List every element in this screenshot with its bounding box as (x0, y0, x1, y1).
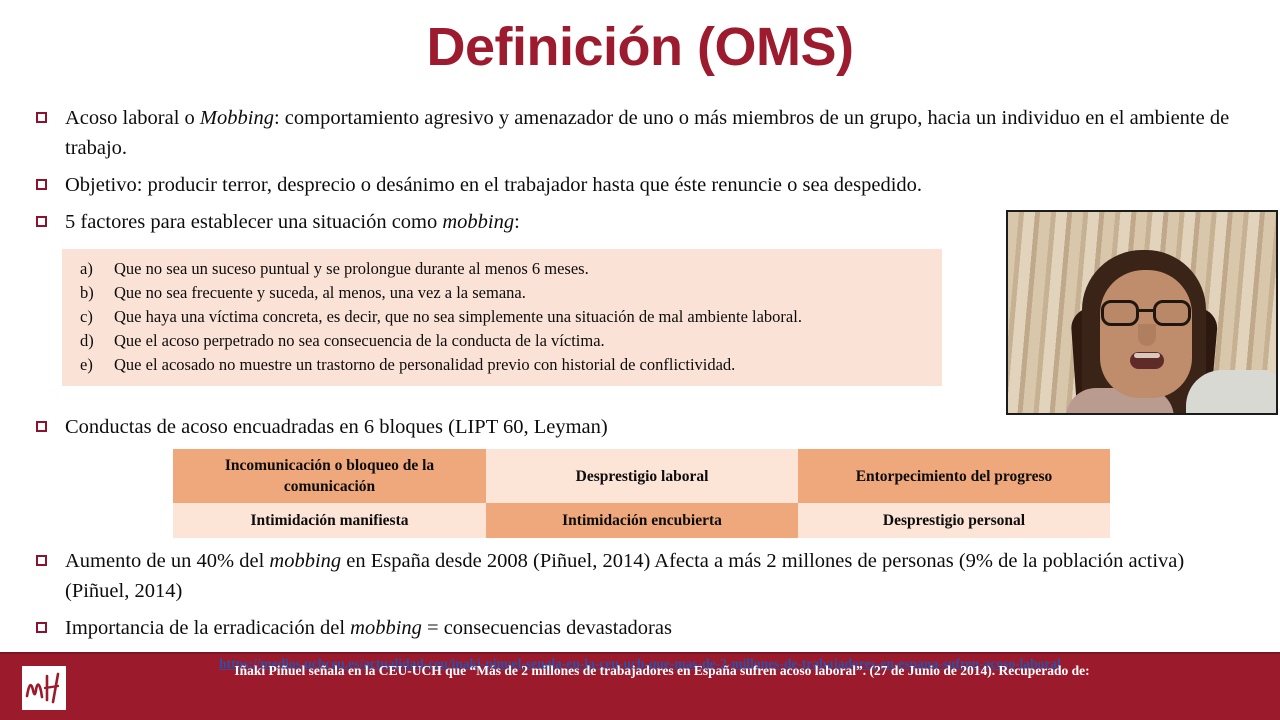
list-item-label: e) (80, 353, 114, 377)
bullet-text: Importancia de la erradicación del mobbi… (65, 613, 672, 643)
bullet-item-aumento: Aumento de un 40% del mobbing en España … (36, 546, 1236, 606)
table-row: Intimidación manifiesta Intimidación enc… (173, 503, 1110, 538)
list-item-label: b) (80, 281, 114, 305)
square-bullet-icon (36, 555, 47, 566)
list-item-label: c) (80, 305, 114, 329)
slide-canvas: Definición (OMS) Acoso laboral o Mobbing… (0, 0, 1280, 720)
footer-bar: Iñaki Piñuel señala en la CEU-UCH que “M… (0, 652, 1280, 720)
table-cell: Desprestigio laboral (486, 449, 798, 503)
bullet-item-5-factores: 5 factores para establecer una situación… (36, 207, 1036, 237)
webcam-glasses-lens-right (1153, 300, 1191, 326)
webcam-teeth (1134, 353, 1160, 358)
bullet-item-objetivo: Objetivo: producir terror, desprecio o d… (36, 170, 1231, 200)
page-title: Definición (OMS) (0, 16, 1280, 78)
bullet-text: Acoso laboral o Mobbing: comportamiento … (65, 103, 1231, 163)
blocks-table: Incomunicación o bloqueo de la comunicac… (173, 449, 1110, 538)
table-cell: Desprestigio personal (798, 503, 1110, 538)
bullet-item-importancia: Importancia de la erradicación del mobbi… (36, 613, 1236, 643)
webcam-nose (1138, 324, 1156, 346)
square-bullet-icon (36, 112, 47, 123)
list-item-text: Que haya una víctima concreta, es decir,… (114, 305, 802, 329)
bullet-item-conductas: Conductas de acoso encuadradas en 6 bloq… (36, 412, 1036, 442)
table-cell: Incomunicación o bloqueo de la comunicac… (173, 449, 486, 503)
list-item-text: Que no sea un suceso puntual y se prolon… (114, 257, 589, 281)
square-bullet-icon (36, 179, 47, 190)
list-item-label: a) (80, 257, 114, 281)
square-bullet-icon (36, 622, 47, 633)
list-item: e) Que el acosado no muestre un trastorn… (62, 353, 942, 377)
list-item-text: Que no sea frecuente y suceda, al menos,… (114, 281, 526, 305)
table-cell: Intimidación encubierta (486, 503, 798, 538)
webcam-glasses-bridge (1139, 309, 1153, 312)
table-cell: Entorpecimiento del progreso (798, 449, 1110, 503)
bullet-item-acoso-laboral: Acoso laboral o Mobbing: comportamiento … (36, 103, 1231, 163)
table-row: Incomunicación o bloqueo de la comunicac… (173, 449, 1110, 503)
bullet-text: Aumento de un 40% del mobbing en España … (65, 546, 1236, 606)
presenter-webcam-video[interactable] (1006, 210, 1278, 415)
list-item-text: Que el acoso perpetrado no sea consecuen… (114, 329, 605, 353)
webcam-glasses-icon (1100, 300, 1194, 326)
square-bullet-icon (36, 421, 47, 432)
list-item-label: d) (80, 329, 114, 353)
webcam-glasses-lens-left (1101, 300, 1139, 326)
footer-citation: Iñaki Piñuel señala en la CEU-UCH que “M… (62, 661, 1262, 681)
mh-logo-icon (22, 666, 66, 710)
list-item: c) Que haya una víctima concreta, es dec… (62, 305, 942, 329)
list-item-text: Que el acosado no muestre un trastorno d… (114, 353, 735, 377)
bullet-text: 5 factores para establecer una situación… (65, 207, 520, 237)
table-cell: Intimidación manifiesta (173, 503, 486, 538)
list-item: d) Que el acoso perpetrado no sea consec… (62, 329, 942, 353)
factors-list-box: a) Que no sea un suceso puntual y se pro… (62, 249, 942, 386)
webcam-shoulder-right (1186, 370, 1278, 415)
square-bullet-icon (36, 216, 47, 227)
list-item: b) Que no sea frecuente y suceda, al men… (62, 281, 942, 305)
bullet-text: Objetivo: producir terror, desprecio o d… (65, 170, 922, 200)
list-item: a) Que no sea un suceso puntual y se pro… (62, 257, 942, 281)
bullet-text: Conductas de acoso encuadradas en 6 bloq… (65, 412, 608, 442)
